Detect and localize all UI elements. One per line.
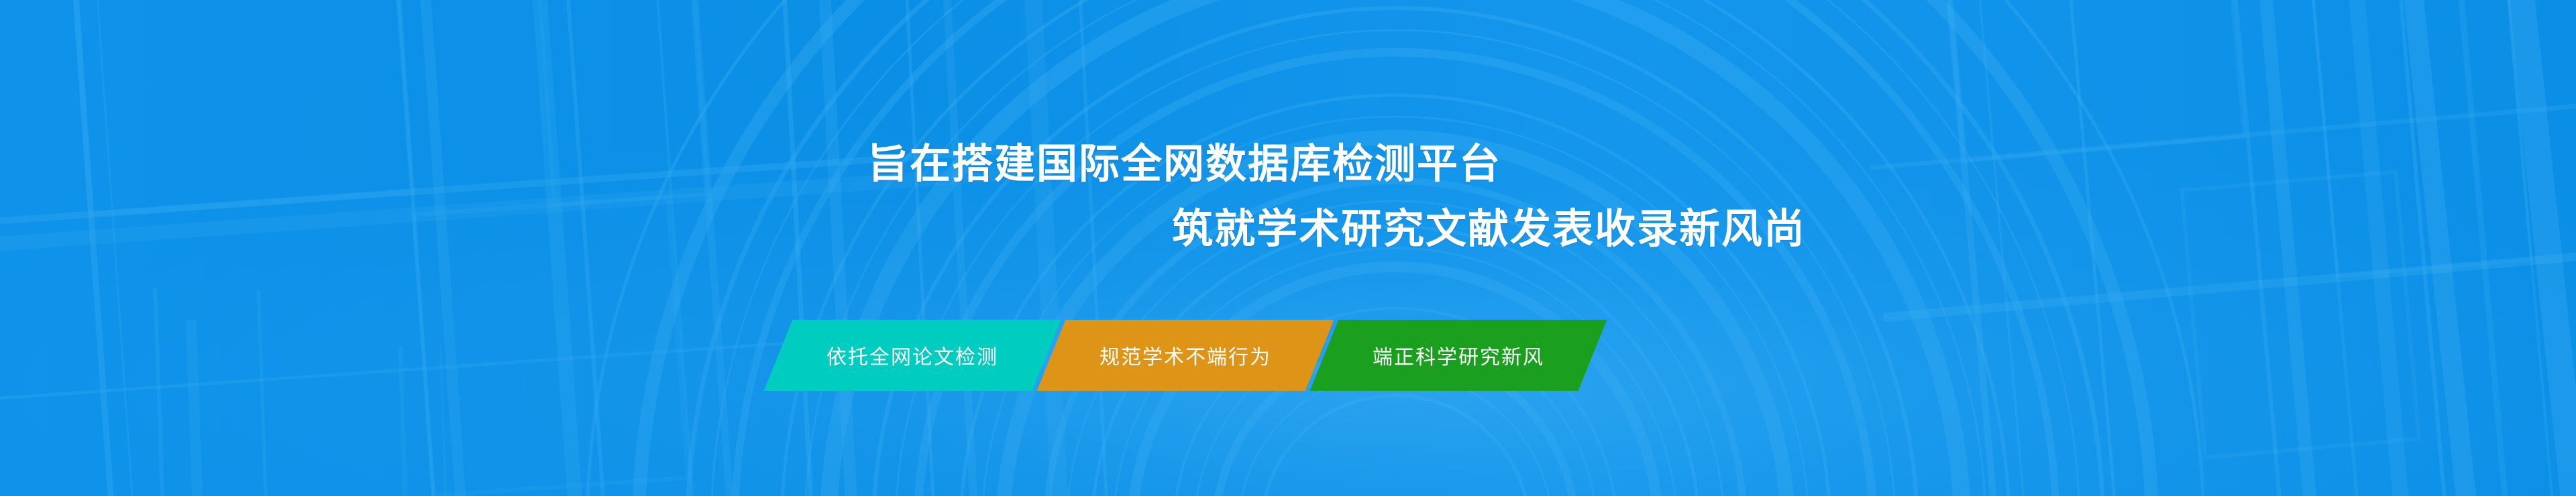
tab-research-ethos-label: 端正科学研究新风	[1373, 340, 1544, 370]
promo-banner: 旨在搭建国际全网数据库检测平台 筑就学术研究文献发表收录新风尚 依托全网论文检测…	[0, 0, 2576, 496]
headline-block: 旨在搭建国际全网数据库检测平台 筑就学术研究文献发表收录新风尚	[0, 131, 1811, 261]
banner-content: 旨在搭建国际全网数据库检测平台 筑就学术研究文献发表收录新风尚 依托全网论文检测…	[0, 0, 2576, 496]
headline-line-1: 旨在搭建国际全网数据库检测平台	[0, 131, 1811, 196]
tab-academic-misconduct-label: 规范学术不端行为	[1099, 340, 1271, 370]
headline-line-2: 筑就学术研究文献发表收录新风尚	[0, 196, 1811, 261]
tab-academic-misconduct[interactable]: 规范学术不端行为	[1037, 320, 1334, 391]
tab-research-ethos[interactable]: 端正科学研究新风	[1310, 320, 1607, 391]
feature-tab-strip: 依托全网论文检测 规范学术不端行为 端正科学研究新风	[778, 320, 1593, 391]
tab-paper-detection-label: 依托全网论文检测	[826, 340, 998, 370]
tab-paper-detection[interactable]: 依托全网论文检测	[764, 320, 1061, 391]
